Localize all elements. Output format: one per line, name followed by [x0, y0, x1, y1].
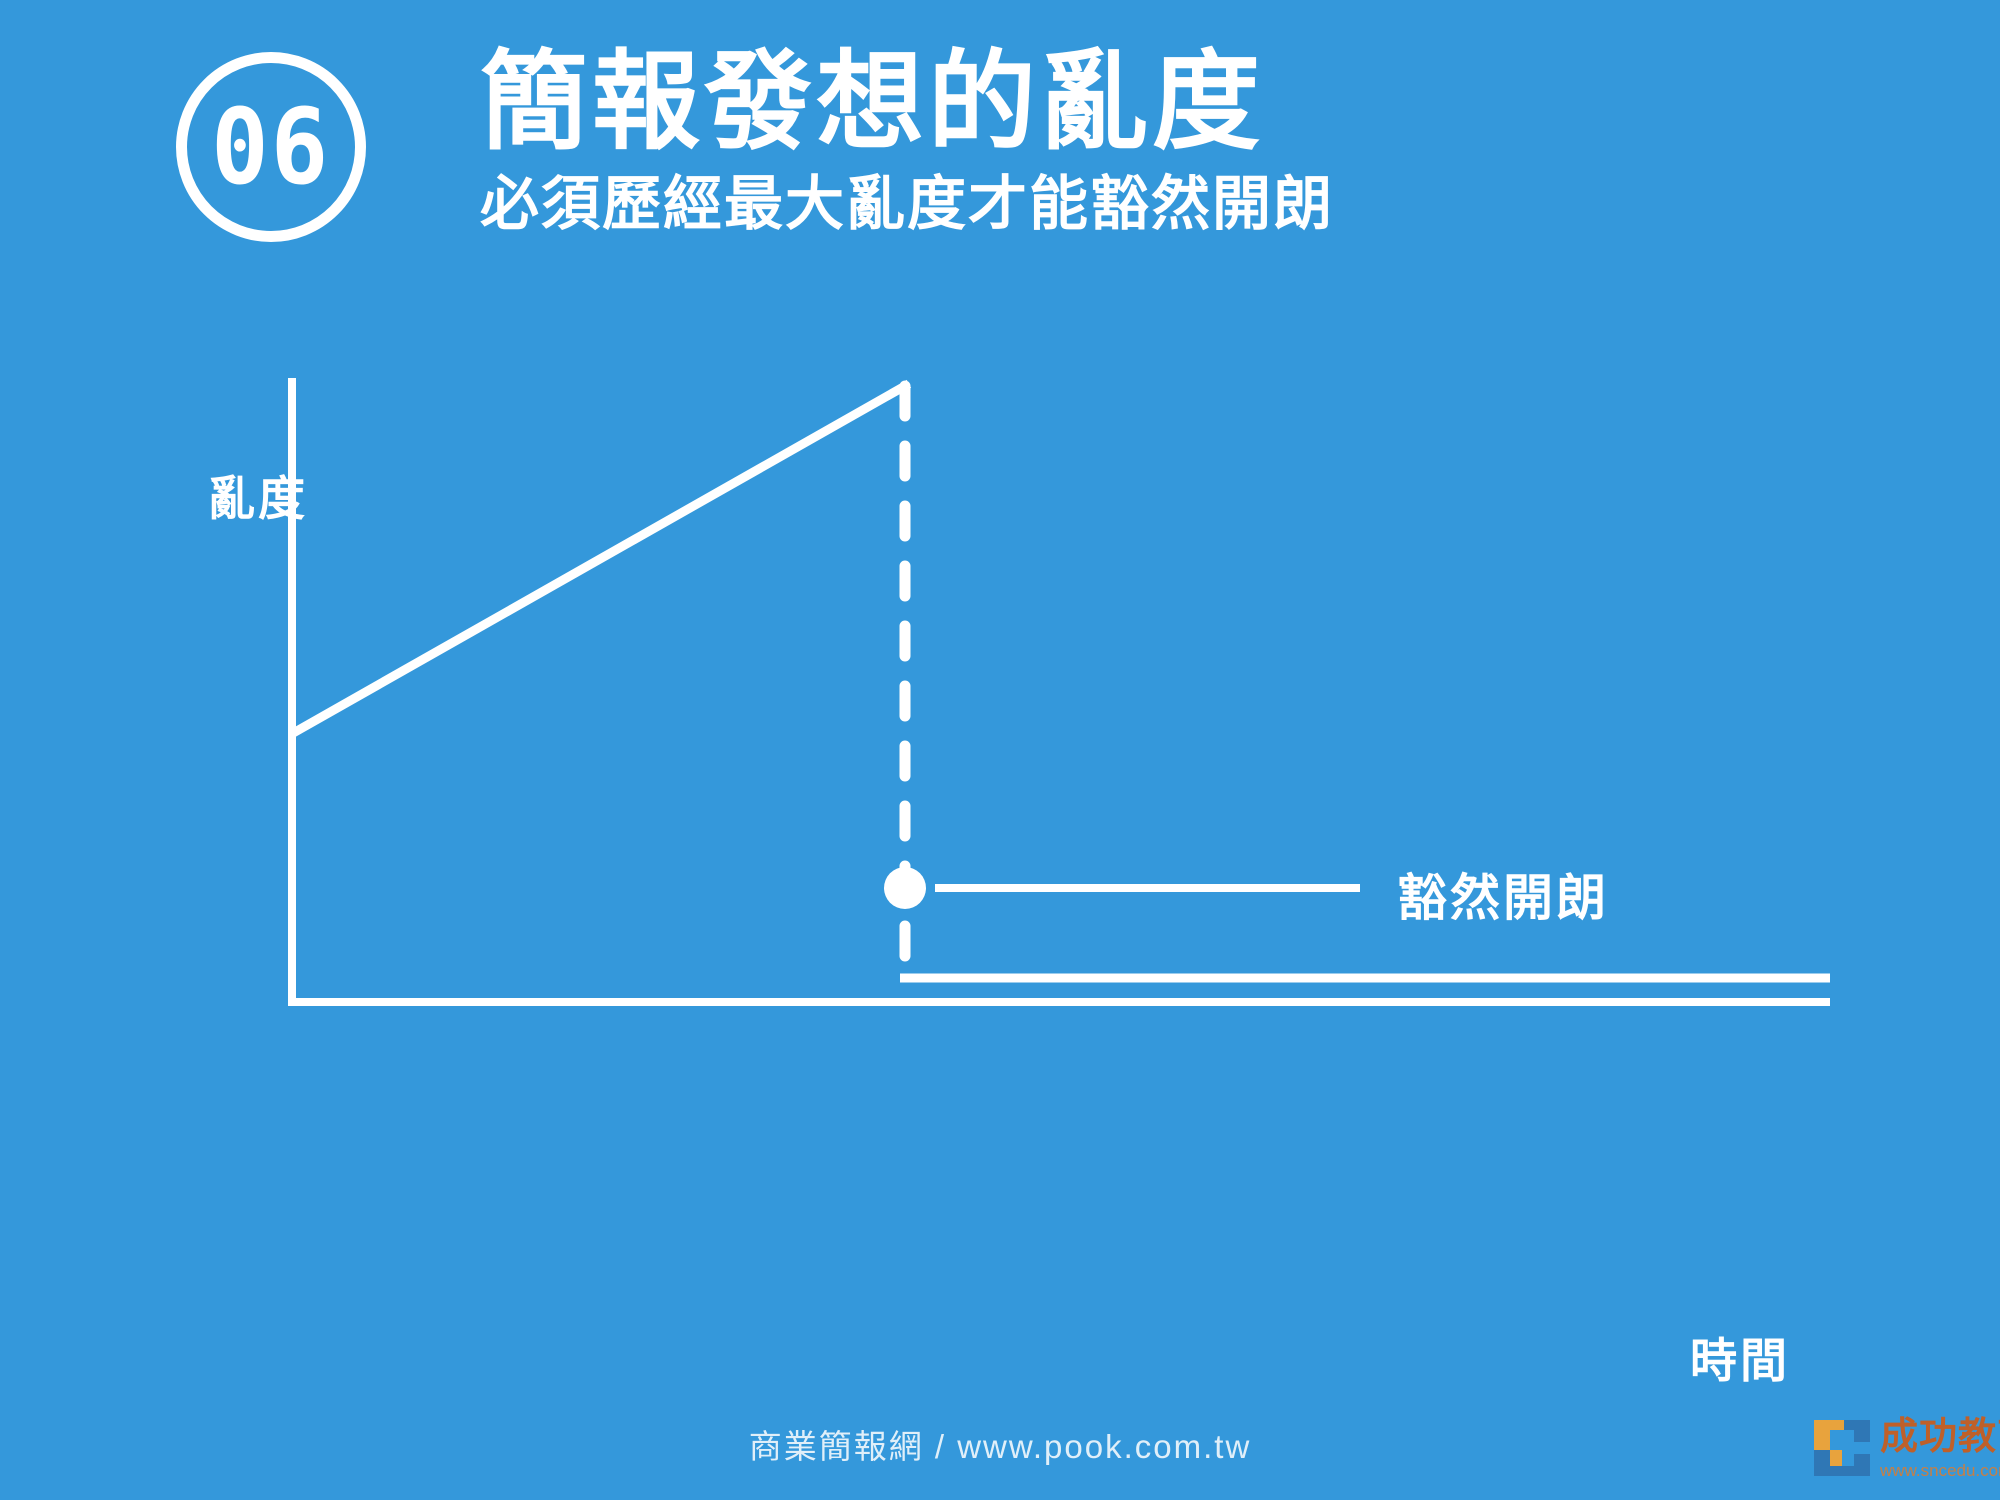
section-number-text: 06 — [212, 95, 331, 199]
watermark-logo-icon — [1810, 1416, 1874, 1480]
entropy-chart: 亂度 時間 豁然開朗 — [0, 300, 2000, 1380]
y-axis-label: 亂度 — [208, 460, 308, 529]
turning-point-dot — [884, 867, 926, 909]
title-block: 簡報發想的亂度 必須歷經最大亂度才能豁然開朗 — [480, 42, 1930, 239]
footer-credit-text: 商業簡報網 / www.pook.com.tw — [749, 1428, 1252, 1465]
slide-canvas: 06 簡報發想的亂度 必須歷經最大亂度才能豁然開朗 亂度 時間 — [0, 0, 2000, 1500]
page-subtitle: 必須歷經最大亂度才能豁然開朗 — [480, 171, 1930, 239]
entropy-rising-line — [295, 386, 905, 732]
annotation-label-clarity: 豁然開朗 — [1397, 858, 1609, 930]
watermark-brand-text: 成功教育 — [1880, 1418, 2000, 1456]
page-title: 簡報發想的亂度 — [480, 42, 1930, 163]
slide-header: 06 簡報發想的亂度 必須歷經最大亂度才能豁然開朗 — [0, 0, 2000, 300]
section-number-badge: 06 — [176, 52, 366, 242]
watermark-url-text: www.sncedu.com — [1880, 1462, 2000, 1479]
watermark: 成功教育 www.sncedu.com — [1806, 1400, 1994, 1496]
x-axis-label: 時間 — [1690, 1322, 1790, 1391]
slide-footer: 商業簡報網 / www.pook.com.tw — [0, 1420, 2000, 1468]
